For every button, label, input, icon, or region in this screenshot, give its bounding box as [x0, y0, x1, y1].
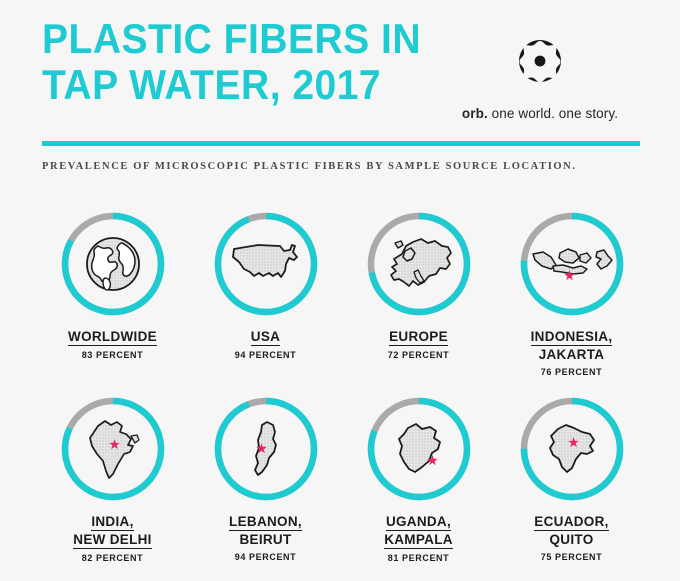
donut-chart-usa [212, 210, 320, 318]
location-name-lebanon: Lebanon,Beirut [229, 514, 302, 549]
location-name-text: Europe [389, 329, 448, 346]
percent-label-europe: 72 Percent [388, 350, 450, 360]
location-name-line: Beirut [229, 532, 302, 549]
location-name-text: Beirut [239, 532, 291, 548]
donut-chart-worldwide [59, 210, 167, 318]
donut-panel-worldwide[interactable]: Worldwide83 Percent [36, 210, 189, 395]
donut-chart-uganda [365, 395, 473, 503]
orb-wordmark-tagline: one world. one story. [492, 106, 618, 121]
location-name-india: India,New Delhi [73, 514, 151, 550]
location-name-text: Ecuador, [534, 514, 608, 531]
donut-chart-europe [365, 210, 473, 318]
location-name-text: Lebanon, [229, 514, 302, 531]
donut-panel-usa[interactable]: USA94 Percent [189, 210, 342, 395]
donut-panel-uganda[interactable]: Uganda,Kampala81 Percent [342, 395, 495, 580]
location-name-ecuador: Ecuador,Quito [534, 514, 608, 549]
location-name-line: Indonesia, [531, 329, 613, 347]
donut-chart-india [59, 395, 167, 503]
panel-labels-lebanon: Lebanon,Beirut94 Percent [229, 514, 302, 562]
location-name-text: India, [91, 514, 133, 531]
percent-label-india: 82 Percent [73, 553, 151, 563]
location-name-indonesia: Indonesia,Jakarta [531, 329, 613, 364]
location-name-worldwide: Worldwide [68, 329, 157, 347]
location-name-text: Kampala [384, 532, 453, 549]
europe-map-icon [365, 210, 473, 318]
location-name-usa: USA [235, 329, 297, 347]
location-name-text: Uganda, [386, 514, 451, 531]
panel-labels-india: India,New Delhi82 Percent [73, 514, 151, 563]
percent-label-uganda: 81 Percent [384, 553, 453, 563]
percent-label-usa: 94 Percent [235, 350, 297, 360]
location-name-line: USA [235, 329, 297, 347]
subtitle: Prevalence of microscopic plastic fibers… [42, 161, 577, 172]
donut-chart-lebanon [212, 395, 320, 503]
donut-panel-lebanon[interactable]: Lebanon,Beirut94 Percent [189, 395, 342, 580]
percent-label-indonesia: 76 Percent [531, 367, 613, 377]
percent-label-ecuador: 75 Percent [534, 552, 608, 562]
donut-panel-ecuador[interactable]: Ecuador,Quito75 Percent [495, 395, 648, 580]
location-name-line: Ecuador, [534, 514, 608, 532]
usa-map-icon [212, 210, 320, 318]
header: Plastic Fibers in Tap Water, 2017 orb. o… [42, 16, 640, 136]
location-name-europe: Europe [388, 329, 450, 347]
location-name-line: Europe [388, 329, 450, 347]
percent-label-worldwide: 83 Percent [68, 350, 157, 360]
panel-labels-indonesia: Indonesia,Jakarta76 Percent [531, 329, 613, 377]
orb-logo-icon [440, 30, 640, 97]
donut-grid: Worldwide83 PercentUSA94 PercentEurope72… [36, 210, 648, 580]
location-name-line: Quito [534, 532, 608, 549]
location-name-text: Jakarta [539, 347, 605, 363]
infographic-page: Plastic Fibers in Tap Water, 2017 orb. o… [0, 0, 680, 581]
location-name-line: Worldwide [68, 329, 157, 347]
panel-labels-europe: Europe72 Percent [388, 329, 450, 360]
uganda-map-icon [365, 395, 473, 503]
panel-labels-usa: USA94 Percent [235, 329, 297, 360]
location-name-text: New Delhi [73, 532, 151, 549]
location-name-line: India, [73, 514, 151, 532]
donut-panel-europe[interactable]: Europe72 Percent [342, 210, 495, 395]
panel-labels-ecuador: Ecuador,Quito75 Percent [534, 514, 608, 562]
location-name-uganda: Uganda,Kampala [384, 514, 453, 550]
location-name-text: Worldwide [68, 329, 157, 346]
panel-labels-uganda: Uganda,Kampala81 Percent [384, 514, 453, 563]
panel-labels-worldwide: Worldwide83 Percent [68, 329, 157, 360]
donut-chart-indonesia [518, 210, 626, 318]
location-name-line: Jakarta [531, 347, 613, 364]
header-divider [42, 141, 640, 146]
percent-label-lebanon: 94 Percent [229, 552, 302, 562]
location-name-text: USA [251, 329, 280, 346]
orb-wordmark: orb. one world. one story. [440, 106, 640, 121]
location-name-line: Lebanon, [229, 514, 302, 532]
orb-wordmark-bold: orb. [462, 106, 488, 121]
indonesia-map-icon [518, 210, 626, 318]
location-name-text: Indonesia, [531, 329, 613, 346]
location-name-line: New Delhi [73, 532, 151, 550]
donut-panel-indonesia[interactable]: Indonesia,Jakarta76 Percent [495, 210, 648, 395]
location-name-line: Uganda, [384, 514, 453, 532]
globe-icon [59, 210, 167, 318]
location-name-text: Quito [549, 532, 593, 548]
ecuador-map-icon [518, 395, 626, 503]
location-name-line: Kampala [384, 532, 453, 550]
orb-logo: orb. one world. one story. [440, 30, 640, 121]
donut-chart-ecuador [518, 395, 626, 503]
donut-panel-india[interactable]: India,New Delhi82 Percent [36, 395, 189, 580]
